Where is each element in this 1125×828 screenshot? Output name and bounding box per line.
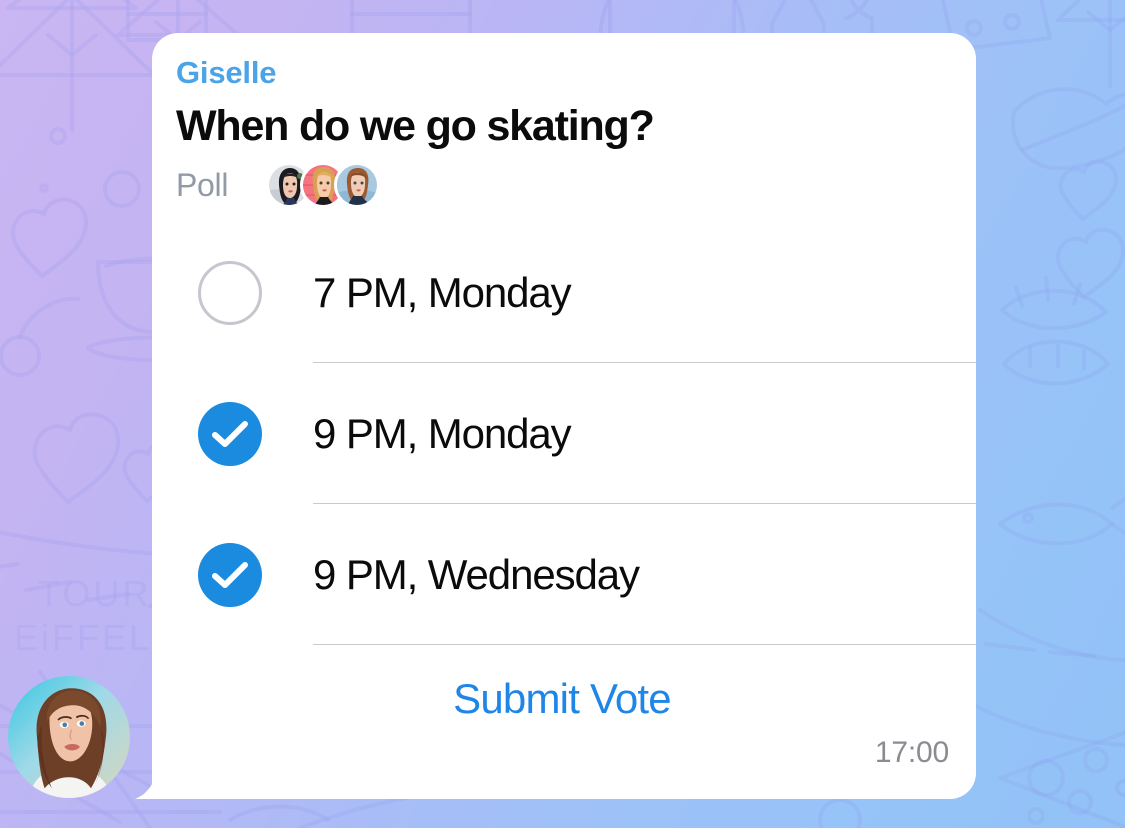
poll-question: When do we go skating? [176,101,948,152]
sender-avatar[interactable] [8,676,130,798]
checkbox-unchecked-icon[interactable] [198,261,262,325]
poll-message-bubble: Giselle When do we go skating? Poll [152,33,976,799]
voters-avatar-stack[interactable] [266,162,380,208]
voter-avatar-3 [334,162,380,208]
poll-option-label: 7 PM, Monday [313,269,571,317]
svg-text:EiFFEL: EiFFEL [14,617,152,658]
chat-screen: AC T [0,0,1125,828]
svg-text:TOUR: TOUR [38,573,151,614]
submit-vote-button[interactable]: Submit Vote [176,675,948,723]
bubble-footer: Submit Vote 17:00 [176,645,948,770]
poll-options-list: 7 PM, Monday 9 PM, Monday [176,222,948,645]
message-timestamp: 17:00 [875,736,949,770]
checkbox-checked-icon[interactable] [198,543,262,607]
sender-name[interactable]: Giselle [176,55,948,91]
poll-type-label: Poll [176,167,228,204]
poll-meta-row: Poll [176,162,948,208]
bubble-tail-icon [135,771,157,799]
poll-option-row[interactable]: 9 PM, Wednesday [176,504,948,645]
poll-option-label: 9 PM, Wednesday [313,551,639,599]
poll-option-row[interactable]: 7 PM, Monday [176,222,948,363]
checkbox-checked-icon[interactable] [198,402,262,466]
poll-option-label: 9 PM, Monday [313,410,571,458]
poll-option-row[interactable]: 9 PM, Monday [176,363,948,504]
